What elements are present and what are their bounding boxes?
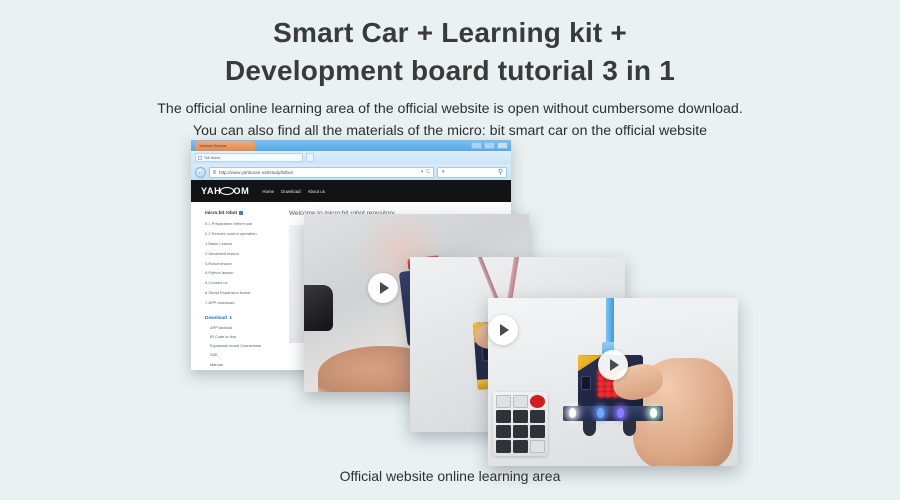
ir-remote-control [493,392,548,456]
sidebar-item[interactable]: 7.APP download [205,300,277,305]
address-value: http://www.yahboom.net/study/bitbot [219,170,293,175]
yahboom-logo[interactable]: YAH OM [201,186,249,196]
star-icon: ★ [441,169,445,175]
white-led [650,408,657,418]
page-title: Smart Car + Learning kit + Development b… [0,0,900,89]
sidebar-item[interactable]: 1.Basic Lesson [205,241,277,246]
browser-url-bar: ← http://www.yahboom.net/study/bitbot ▾ … [191,164,511,180]
maximize-icon[interactable] [484,142,495,149]
logo-text-right: OM [233,186,249,196]
wheel [623,421,636,436]
sidebar-list: 0.1 Preparation before use 0.2 Remote co… [205,221,277,306]
white-led [569,408,576,418]
motor-part [304,285,333,331]
browser-tab[interactable]: Yahboom Browser [195,141,255,151]
site-sidebar: micro:bit robot 0.1 Preparation before u… [191,202,283,370]
wheel [583,421,596,436]
browser-title-bar: Yahboom Browser [191,140,511,151]
sidebar-item[interactable]: 0.2 Remote control operation [205,231,277,236]
usb-cable [606,298,614,345]
minimize-icon[interactable] [471,142,482,149]
video-thumbnail-3 [488,298,738,466]
checkbox-icon [198,156,202,160]
board-button [581,376,591,390]
media-stage: Yahboom Browser Tab Name ← http://www.ya… [0,132,900,450]
sidebar-title: micro:bit robot [205,210,277,215]
logo-text-left: YAH [201,186,221,196]
dropdown-caret-icon[interactable]: ▾ [421,169,424,175]
logo-ring-icon [220,187,234,195]
download-item[interactable]: IR Code to find [205,334,277,339]
play-button-3[interactable] [598,350,628,380]
sidebar-item[interactable]: 2.Advanced lesson [205,251,277,256]
browser-bookmarks-bar: Tab Name [191,151,511,164]
back-arrow-icon[interactable]: ← [195,167,206,178]
search-input[interactable]: ★ ⚲ [437,167,507,178]
sidebar-item[interactable]: 6.Smart Expansion board [205,290,277,295]
page-title-line2: Development board tutorial 3 in 1 [0,52,900,90]
blue-led [597,408,604,418]
download-item[interactable]: Expansion board Courseware [205,343,277,348]
search-icon[interactable]: ⚲ [498,168,503,176]
sidebar-item[interactable]: 4.Python lesson [205,270,277,275]
bookmark-item[interactable]: Tab Name [195,153,303,162]
download-item[interactable]: SDK [205,352,277,357]
reload-icon[interactable]: C [426,169,430,175]
stage-caption: Official website online learning area [0,468,900,484]
window-controls [471,142,508,149]
nav-link-home[interactable]: Home [262,189,274,194]
download-list: APP Android IR Code to find Expansion bo… [205,325,277,370]
car-chassis [563,406,663,421]
lock-icon [213,170,216,174]
play-button-2[interactable] [488,315,518,345]
sidebar-item[interactable]: 0.1 Preparation before use [205,221,277,226]
book-icon [239,211,243,215]
video-card-3[interactable] [488,298,738,466]
download-icon: ⬇ [229,315,232,320]
bookmark-label: Tab Name [204,156,220,160]
address-actions: ▾ C [421,169,430,175]
purple-led [617,408,624,418]
address-input[interactable]: http://www.yahboom.net/study/bitbot ▾ C [209,167,434,178]
bookmark-overflow-button[interactable] [306,153,314,162]
play-button-1[interactable] [368,273,398,303]
download-section-title: Download ⬇ [205,315,277,320]
sidebar-item[interactable]: 3.Robot lesson [205,261,277,266]
download-item[interactable]: Manual [205,362,277,367]
sidebar-item[interactable]: 5.Contact us [205,280,277,285]
nav-link-download[interactable]: Download [281,189,301,194]
nav-link-about-us[interactable]: About us [308,189,325,194]
site-nav-bar: YAH OM Home Download About us [191,180,511,202]
page-subtitle-line1: The official online learning area of the… [0,99,900,121]
page-title-line1: Smart Car + Learning kit + [273,17,627,48]
site-nav-links: Home Download About us [262,189,325,194]
close-icon[interactable] [497,142,508,149]
download-item[interactable]: APP Android [205,325,277,330]
